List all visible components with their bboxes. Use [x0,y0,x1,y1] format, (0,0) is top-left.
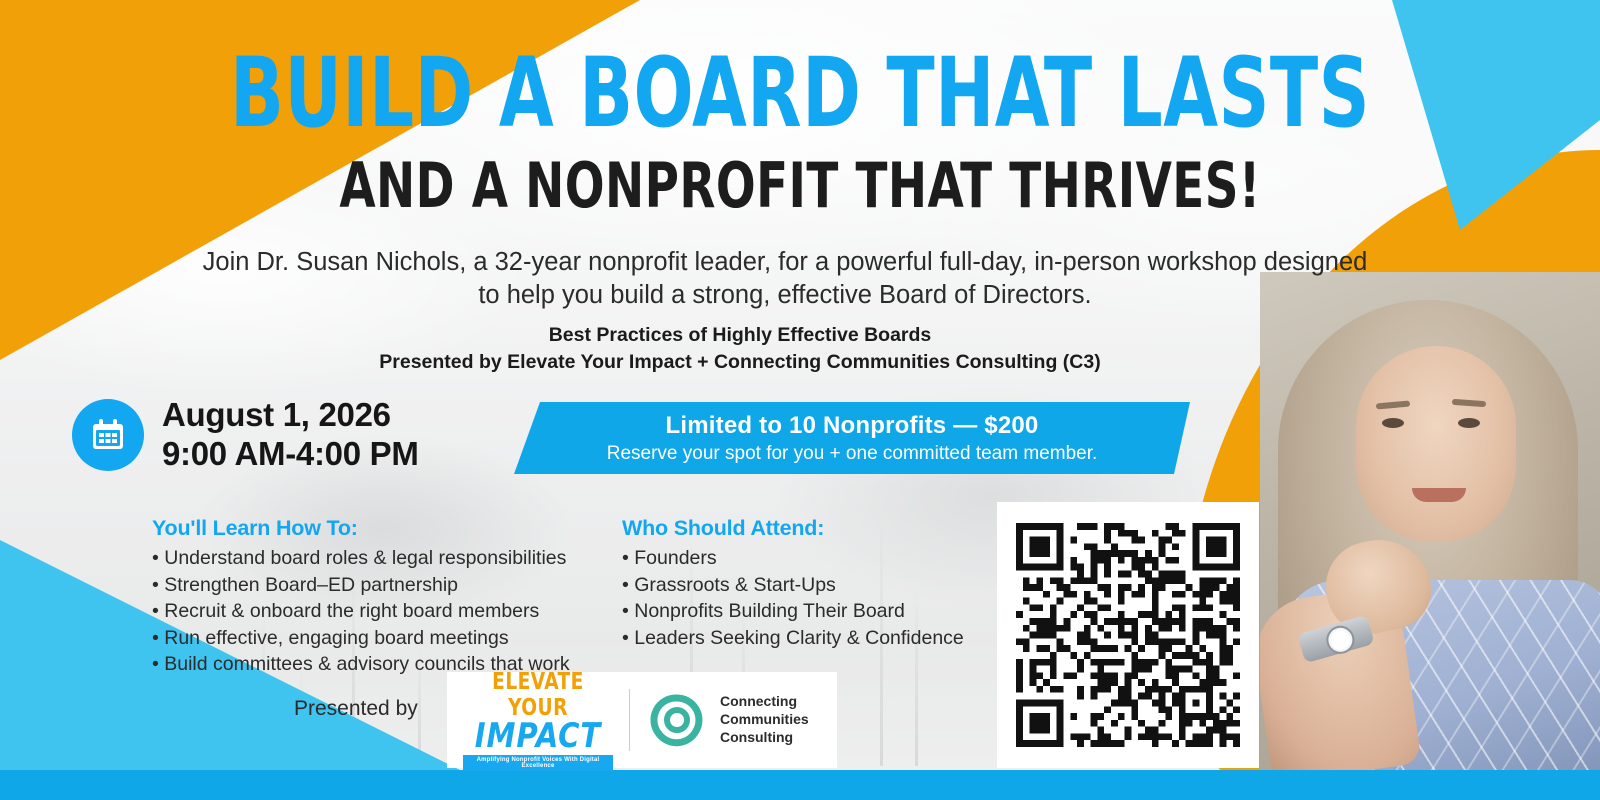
event-date: August 1, 2026 [162,396,419,435]
list-item: • Recruit & onboard the right board memb… [152,598,570,625]
headline-primary: BUILD A BOARD THAT LASTS [144,48,1456,138]
attend-list: • Founders • Grassroots & Start-Ups • No… [622,545,964,651]
c3-line2: Communities [720,711,809,729]
c3-swirl-icon [646,689,708,751]
list-item: • Founders [622,545,964,572]
presenters-line: Presented by Elevate Your Impact + Conne… [190,349,1290,376]
list-item: • Run effective, engaging board meetings [152,625,570,652]
attend-list-block: Who Should Attend: • Founders • Grassroo… [622,516,964,651]
c3-line3: Consulting [720,729,809,747]
event-banner: BUILD A BOARD THAT LASTS AND A NONPROFIT… [0,0,1600,800]
intro-paragraph: Join Dr. Susan Nichols, a 32-year nonpro… [190,246,1380,312]
presented-by-label: Presented by [294,697,418,721]
event-date-text: August 1, 2026 9:00 AM-4:00 PM [162,396,419,474]
presented-block: Best Practices of Highly Effective Board… [190,322,1290,376]
learn-list-heading: You'll Learn How To: [152,516,570,541]
portrait-mouth [1412,488,1466,502]
list-item: • Grassroots & Start-Ups [622,572,964,599]
partner-logos-card: ELEVATE YOUR IMPACT Amplifying Nonprofit… [447,672,837,768]
workshop-subject: Best Practices of Highly Effective Board… [190,322,1290,349]
connecting-communities-logo: Connecting Communities Consulting [646,689,809,751]
calendar-icon [72,399,144,471]
eyi-logo-line1: ELEVATE YOUR [471,669,606,721]
list-item: • Leaders Seeking Clarity & Confidence [622,625,964,652]
portrait-eye-left [1382,418,1404,428]
price-banner-subtitle: Reserve your spot for you + one committe… [607,443,1098,465]
price-banner-title: Limited to 10 Nonprofits — $200 [666,412,1039,440]
c3-logo-text: Connecting Communities Consulting [720,693,809,747]
eyi-logo-line2: IMPACT [467,721,610,752]
learn-list: • Understand board roles & legal respons… [152,545,570,678]
portrait-face [1356,346,1516,542]
list-item: • Strengthen Board–ED partnership [152,572,570,599]
list-item: • Nonprofits Building Their Board [622,598,964,625]
logo-divider [629,689,630,751]
event-time: 9:00 AM-4:00 PM [162,435,419,474]
portrait-eye-right [1458,418,1480,428]
qr-code-card[interactable] [997,502,1259,768]
attend-list-heading: Who Should Attend: [622,516,964,541]
c3-line1: Connecting [720,693,809,711]
price-banner: Limited to 10 Nonprofits — $200 Reserve … [514,402,1190,474]
list-item: • Understand board roles & legal respons… [152,545,570,572]
elevate-your-impact-logo: ELEVATE YOUR IMPACT Amplifying Nonprofit… [463,669,613,771]
learn-list-block: You'll Learn How To: • Understand board … [152,516,570,678]
speaker-portrait-photo [1260,272,1600,770]
event-date-block: August 1, 2026 9:00 AM-4:00 PM [72,396,419,474]
eyi-logo-tagline: Amplifying Nonprofit Voices With Digital… [463,755,613,771]
bottom-blue-strip [0,770,1600,800]
headline-secondary: AND A NONPROFIT THAT THRIVES! [128,155,1472,217]
qr-code-image[interactable] [1016,523,1240,747]
